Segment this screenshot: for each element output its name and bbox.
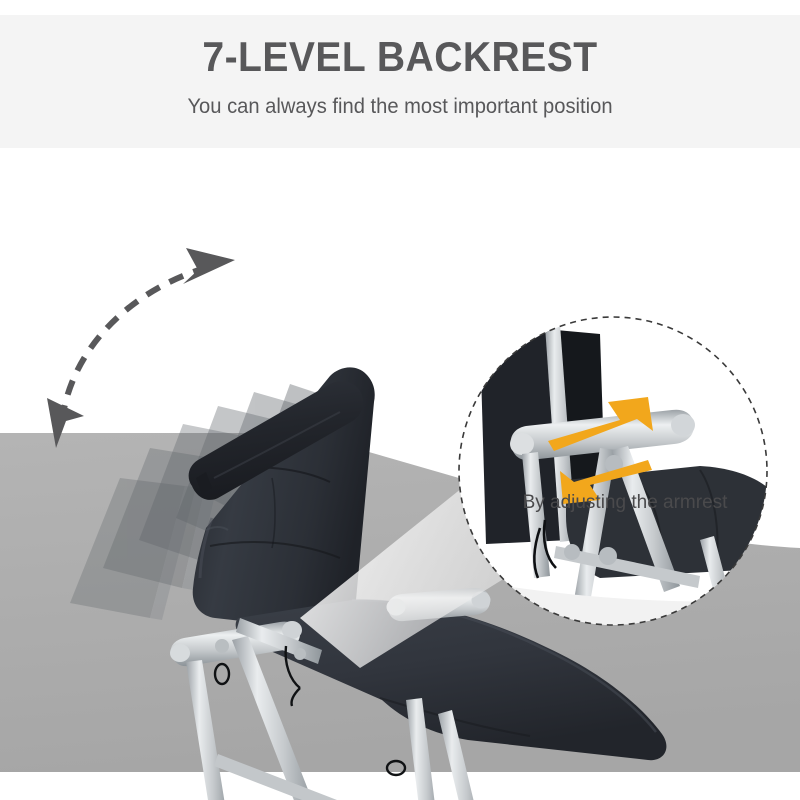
product-scene — [0, 148, 800, 800]
product-feature-image: 7-LEVEL BACKREST You can always find the… — [0, 0, 800, 800]
page-subtitle: You can always find the most important p… — [16, 95, 784, 119]
curved-double-arrow-icon — [47, 248, 235, 448]
page-title: 7-LEVEL BACKREST — [28, 33, 772, 81]
inset-caption: By adjusting the armrest — [500, 492, 750, 514]
